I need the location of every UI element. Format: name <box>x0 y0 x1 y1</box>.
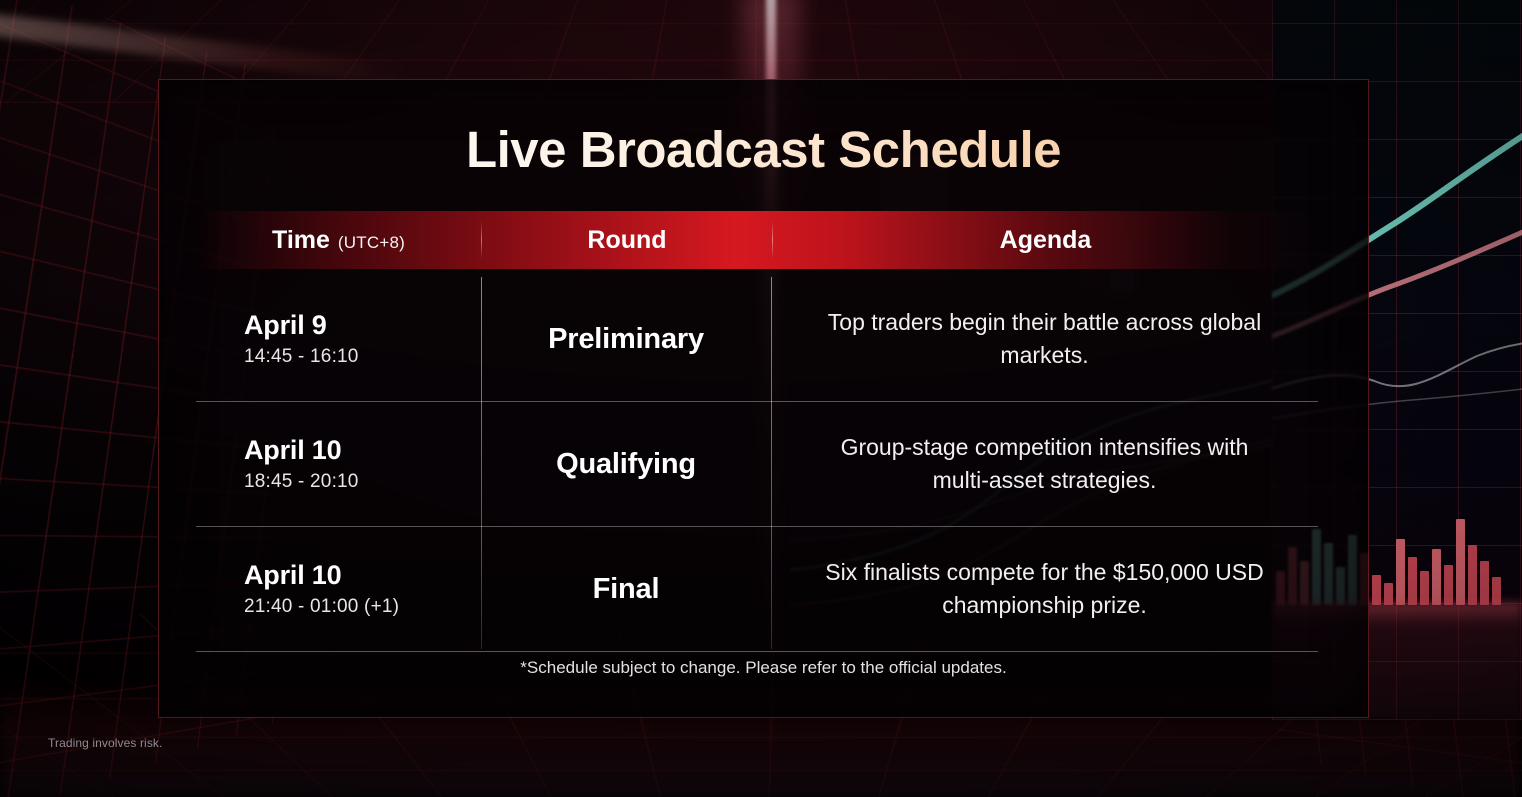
row-round: Final <box>593 573 660 606</box>
row-date: April 9 <box>244 310 327 341</box>
schedule-poster: Live Broadcast Schedule Time (UTC+8) Rou… <box>0 0 1522 797</box>
cell-round: Preliminary <box>481 277 771 401</box>
table-header-timezone: (UTC+8) <box>338 233 405 253</box>
cell-round: Qualifying <box>481 402 771 526</box>
row-agenda: Group-stage competition intensifies with… <box>810 431 1280 496</box>
table-header-round: Round <box>482 226 772 255</box>
cell-time: April 10 18:45 - 20:10 <box>196 402 481 526</box>
cell-agenda: Top traders begin their battle across gl… <box>771 277 1318 401</box>
schedule-panel: Live Broadcast Schedule Time (UTC+8) Rou… <box>158 79 1369 718</box>
table-header-time: Time (UTC+8) <box>196 226 481 255</box>
table-header-agenda: Agenda <box>773 226 1318 255</box>
cell-time: April 9 14:45 - 16:10 <box>196 277 481 401</box>
cell-time: April 10 21:40 - 01:00 (+1) <box>196 527 481 651</box>
table-header-row: Time (UTC+8) Round Agenda <box>196 211 1318 269</box>
row-agenda: Six finalists compete for the $150,000 U… <box>810 556 1280 621</box>
table-row: April 10 21:40 - 01:00 (+1) Final Six fi… <box>196 527 1318 652</box>
cell-agenda: Group-stage competition intensifies with… <box>771 402 1318 526</box>
schedule-footnote: *Schedule subject to change. Please refe… <box>159 658 1368 678</box>
row-date: April 10 <box>244 435 341 466</box>
row-hours: 21:40 - 01:00 (+1) <box>244 596 399 618</box>
table-header-time-label: Time <box>272 226 330 255</box>
row-round: Qualifying <box>556 448 696 481</box>
cell-agenda: Six finalists compete for the $150,000 U… <box>771 527 1318 651</box>
table-row: April 9 14:45 - 16:10 Preliminary Top tr… <box>196 277 1318 402</box>
cell-round: Final <box>481 527 771 651</box>
row-agenda: Top traders begin their battle across gl… <box>810 306 1280 371</box>
row-hours: 18:45 - 20:10 <box>244 471 359 493</box>
row-hours: 14:45 - 16:10 <box>244 346 359 368</box>
row-date: April 10 <box>244 560 341 591</box>
table-body: April 9 14:45 - 16:10 Preliminary Top tr… <box>196 277 1318 652</box>
table-row: April 10 18:45 - 20:10 Qualifying Group-… <box>196 402 1318 527</box>
page-title: Live Broadcast Schedule <box>159 120 1368 179</box>
risk-disclaimer: Trading involves risk. <box>48 736 162 750</box>
row-round: Preliminary <box>548 323 704 356</box>
